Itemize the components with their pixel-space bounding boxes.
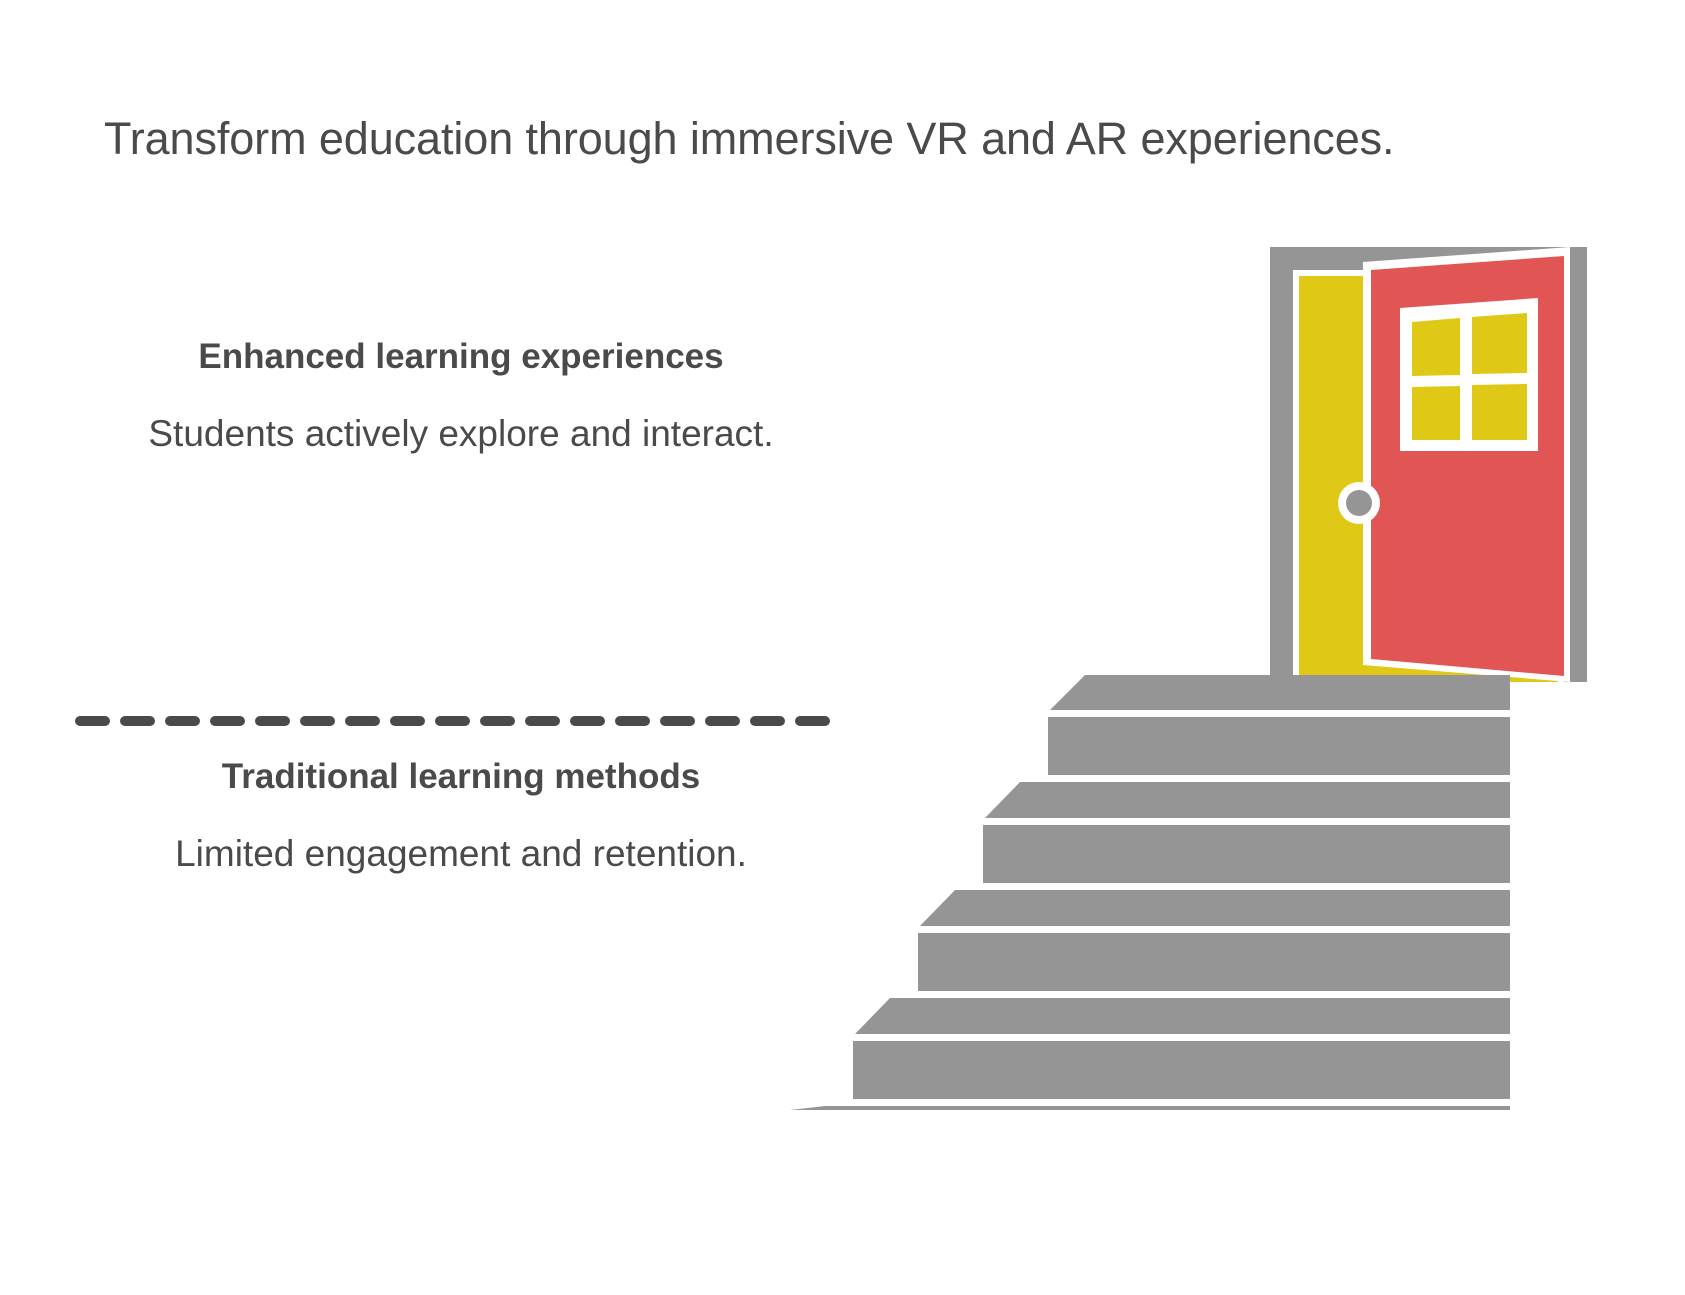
staircase bbox=[790, 675, 1510, 1110]
door-window-pane-top-left bbox=[1412, 318, 1460, 376]
step-tread-5 bbox=[790, 1106, 1510, 1110]
step-riser-3 bbox=[918, 933, 1510, 991]
step-tread-1 bbox=[1050, 675, 1510, 710]
step-riser-2 bbox=[983, 825, 1510, 883]
step-tread-2 bbox=[985, 782, 1510, 818]
door-window-pane-top-right bbox=[1472, 313, 1527, 374]
step-tread-3 bbox=[920, 890, 1510, 926]
door-window-pane-bottom-right bbox=[1472, 384, 1527, 440]
door-group bbox=[1270, 247, 1587, 682]
page-title: Transform education through immersive VR… bbox=[104, 112, 1464, 165]
step-riser-4 bbox=[853, 1041, 1510, 1099]
door-window-pane-bottom-left bbox=[1412, 386, 1460, 440]
step-riser-1 bbox=[1048, 717, 1510, 775]
step-tread-4 bbox=[855, 998, 1510, 1034]
door-knob-icon bbox=[1346, 490, 1372, 516]
slide-canvas: Transform education through immersive VR… bbox=[0, 0, 1685, 1295]
open-door-stairs-illustration bbox=[700, 210, 1685, 1110]
